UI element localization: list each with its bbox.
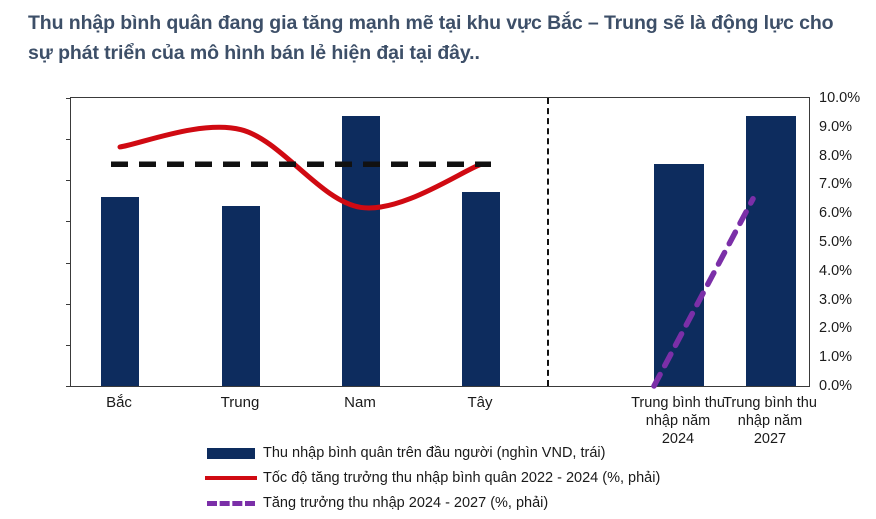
line-overlay: [71, 98, 809, 386]
x-tick-label: Tây: [430, 394, 530, 413]
bar-swatch-icon: [205, 444, 257, 462]
y-tick-right: 6.0%: [819, 205, 876, 221]
legend-label-bar: Thu nhập bình quân trên đầu người (nghìn…: [263, 445, 605, 461]
legend-item-red-line: Tốc độ tăng trưởng thu nhập bình quân 20…: [205, 465, 845, 490]
y-tick-mark-left: [66, 386, 71, 387]
x-tick-label: Bắc: [69, 394, 169, 413]
y-tick-right: 8.0%: [819, 148, 876, 164]
y-tick-right: 7.0%: [819, 176, 876, 192]
x-tick-label: Nam: [310, 394, 410, 413]
legend-item-bar: Thu nhập bình quân trên đầu người (nghìn…: [205, 440, 845, 465]
legend-item-purple-line: Tăng trưởng thu nhập 2024 - 2027 (%, phả…: [205, 490, 845, 515]
y-tick-right: 1.0%: [819, 349, 876, 365]
x-tick-label: Trung: [190, 394, 290, 413]
y-tick-right: 3.0%: [819, 292, 876, 308]
line-swatch-icon: [205, 469, 257, 487]
y-tick-right: 5.0%: [819, 234, 876, 250]
chart-container: -1,0002,0003,0004,0005,0006,0007,000 0.0…: [0, 88, 876, 398]
legend-label-red-line: Tốc độ tăng trưởng thu nhập bình quân 20…: [263, 470, 660, 486]
y-tick-right: 9.0%: [819, 119, 876, 135]
y-tick-right: 2.0%: [819, 320, 876, 336]
purple-growth-line: [654, 199, 753, 386]
y-tick-right: 0.0%: [819, 378, 876, 394]
plot-area: -1,0002,0003,0004,0005,0006,0007,000 0.0…: [70, 97, 810, 387]
page-title: Thu nhập bình quân đang gia tăng mạnh mẽ…: [28, 8, 858, 68]
red-growth-line: [120, 127, 481, 208]
dashed-line-swatch-icon: [205, 494, 257, 512]
y-tick-right: 10.0%: [819, 90, 876, 106]
legend-label-purple-line: Tăng trưởng thu nhập 2024 - 2027 (%, phả…: [263, 495, 548, 511]
chart-legend: Thu nhập bình quân trên đầu người (nghìn…: [205, 440, 845, 515]
y-tick-right: 4.0%: [819, 263, 876, 279]
